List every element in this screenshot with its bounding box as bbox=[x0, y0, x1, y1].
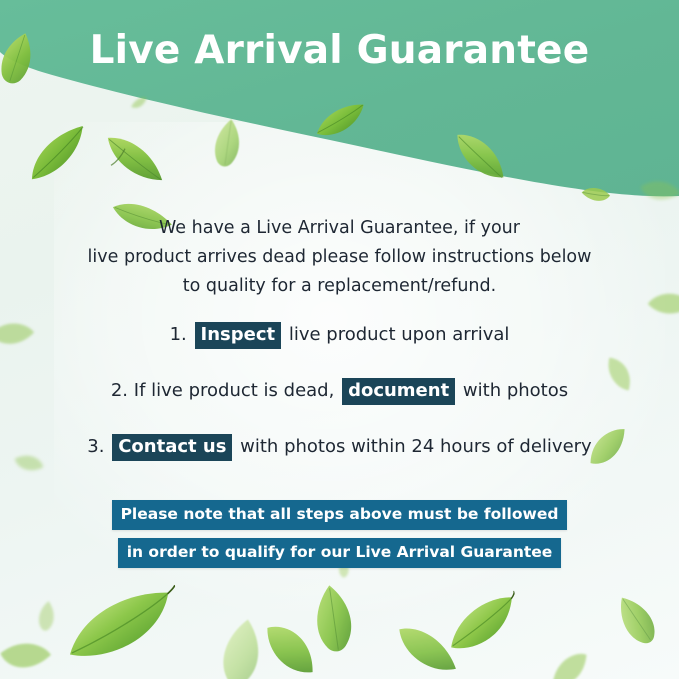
footer-note-row-2: in order to qualify for our Live Arrival… bbox=[0, 538, 679, 568]
intro-line-1: We have a Live Arrival Guarantee, if you… bbox=[0, 214, 679, 243]
step-item-3: 3. Contact us with photos within 24 hour… bbox=[0, 432, 679, 462]
step-item-2: 2. If live product is dead, document wit… bbox=[0, 376, 679, 406]
step-highlight-document[interactable]: document bbox=[342, 378, 455, 405]
step-text-after: live product upon arrival bbox=[289, 324, 510, 345]
step-text-after: with photos bbox=[463, 380, 568, 401]
intro-line-2: live product arrives dead please follow … bbox=[0, 243, 679, 272]
intro-paragraph: We have a Live Arrival Guarantee, if you… bbox=[0, 214, 679, 301]
falling-leaf-icon bbox=[604, 585, 670, 655]
steps-list: 1. Inspect live product upon arrival 2. … bbox=[0, 320, 679, 488]
guarantee-graphic: Live Arrival Guarantee bbox=[0, 0, 679, 679]
falling-leaf-icon bbox=[250, 613, 330, 679]
step-item-1: 1. Inspect live product upon arrival bbox=[0, 320, 679, 350]
falling-leaf-icon bbox=[438, 586, 528, 661]
step-number: 1. bbox=[170, 324, 187, 345]
page-title: Live Arrival Guarantee bbox=[0, 28, 679, 73]
falling-leaf-icon bbox=[387, 618, 468, 679]
intro-line-3: to quality for a replacement/refund. bbox=[0, 272, 679, 301]
falling-leaf-icon bbox=[544, 647, 597, 679]
footer-note: Please note that all steps above must be… bbox=[0, 500, 679, 576]
step-text-before: If live product is dead, bbox=[134, 380, 335, 401]
step-number: 2. bbox=[111, 380, 128, 401]
step-text-after: with photos within 24 hours of delivery bbox=[240, 436, 592, 457]
falling-leaf-icon bbox=[0, 631, 55, 679]
falling-leaf-icon bbox=[303, 581, 364, 658]
step-highlight-inspect[interactable]: Inspect bbox=[195, 322, 282, 349]
falling-leaf-icon bbox=[210, 614, 273, 679]
step-highlight-contact-us[interactable]: Contact us bbox=[112, 434, 232, 461]
footer-note-line-2: in order to qualify for our Live Arrival… bbox=[118, 538, 562, 568]
step-number: 3. bbox=[87, 436, 104, 457]
footer-note-row-1: Please note that all steps above must be… bbox=[0, 500, 679, 530]
falling-leaf-icon bbox=[56, 578, 188, 671]
falling-leaf-icon bbox=[34, 599, 59, 633]
footer-note-line-1: Please note that all steps above must be… bbox=[112, 500, 568, 530]
